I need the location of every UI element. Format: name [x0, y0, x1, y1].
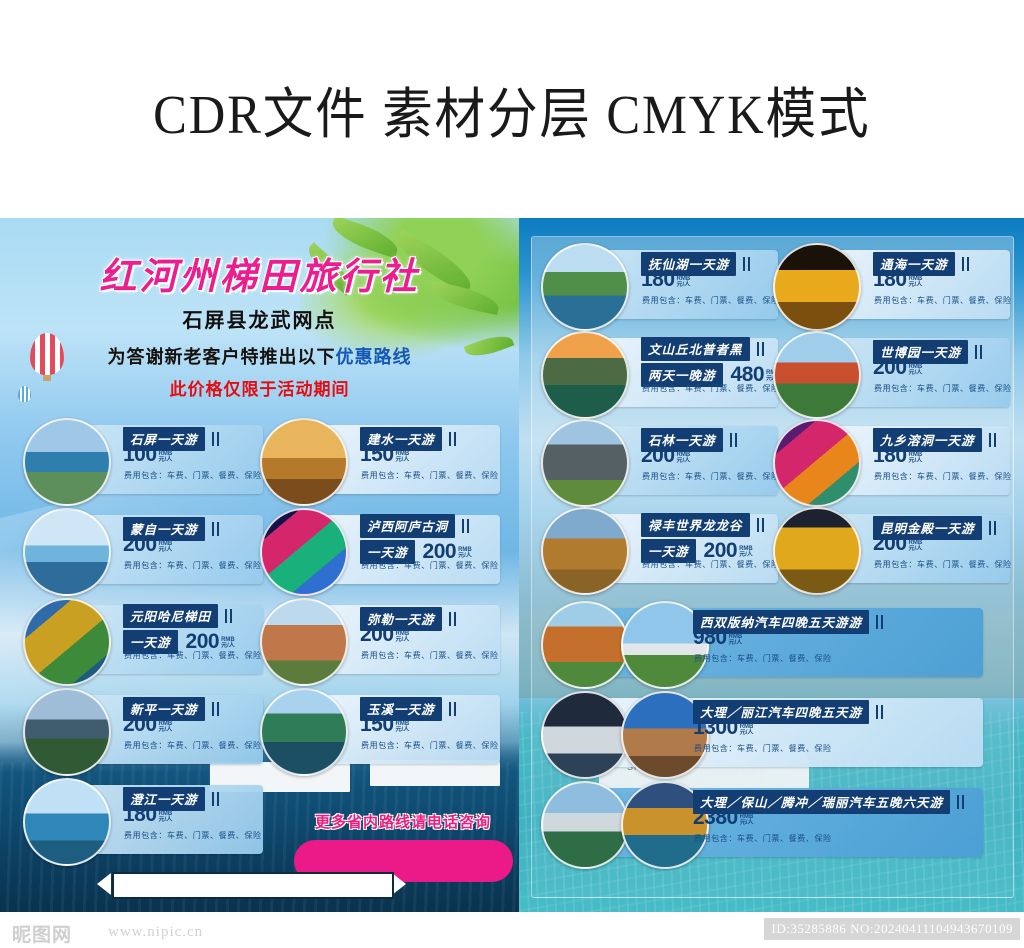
tour-includes: 费用包含：车费、门票、餐费、保险 [361, 470, 499, 481]
price-unit: RMB元/人 [159, 451, 173, 465]
tour-includes: 费用包含：车费、门票、餐费、保险 [361, 560, 499, 571]
more-routes-text: 更多省内路线请电话咨询 [293, 811, 513, 832]
tour-thumbnail [23, 598, 111, 686]
tour-price-row: 180RMB元/人 [123, 806, 172, 825]
tour-thumbnail [260, 598, 348, 686]
tour-price: 200 [360, 626, 394, 645]
brand-title: 红河州梯田旅行社 [0, 246, 519, 300]
tour-includes: 费用包含：车费、门票、餐费、保险 [361, 740, 499, 751]
per-person-label: 元/人 [396, 637, 410, 643]
tour-thumbnail [23, 688, 111, 776]
per-person-label: 元/人 [458, 553, 472, 559]
per-person-label: 元/人 [909, 458, 923, 464]
tour-includes: 费用包含：车费、门票、餐费、保险 [874, 383, 1012, 394]
title-bars-icon [989, 521, 998, 535]
tour-thumbnail [541, 419, 629, 507]
price-unit: RMB元/人 [740, 814, 754, 828]
price-unit: RMB元/人 [396, 631, 410, 645]
title-bars-icon [225, 609, 234, 623]
price-unit: RMB元/人 [909, 540, 923, 554]
tour-includes: 费用包含：车费、门票、餐费、保险 [642, 383, 780, 394]
arrow-right-icon [392, 873, 406, 895]
per-person-label: 元/人 [677, 458, 691, 464]
per-person-label: 元/人 [739, 552, 753, 558]
arrow-left-icon [97, 873, 111, 895]
title-bars-icon [449, 612, 458, 626]
tour-thumbnail [260, 688, 348, 776]
tour-includes: 费用包含：车费、门票、餐费、保险 [642, 559, 780, 570]
price-unit: RMB元/人 [909, 452, 923, 466]
title-bars-icon [743, 257, 752, 271]
tour-includes: 费用包含：车费、门票、餐费、保险 [642, 295, 780, 306]
tour-includes: 费用包含：车费、门票、餐费、保险 [124, 470, 262, 481]
tour-thumbnail [23, 508, 111, 596]
tour-price: 180 [873, 271, 907, 290]
price-unit: RMB元/人 [909, 364, 923, 378]
tour-thumbnail [23, 418, 111, 506]
tour-price: 200 [123, 716, 157, 735]
tour-includes: 费用包含：车费、门票、餐费、保险 [361, 650, 499, 661]
tour-price-row: 150RMB元/人 [360, 446, 409, 465]
tour-price: 100 [123, 446, 157, 465]
price-unit: RMB元/人 [159, 541, 173, 555]
tour-price: 200 [186, 633, 220, 652]
per-person-label: 元/人 [740, 820, 754, 826]
title-bars-icon [962, 257, 971, 271]
price-unit: RMB元/人 [909, 276, 923, 290]
tour-price-row: 150RMB元/人 [360, 716, 409, 735]
tour-price: 200 [704, 542, 738, 561]
right-poster-panel: SN-3119 抚仙湖一天游180RMB元/人费用包含：车费、门票、餐费、保险通… [519, 218, 1024, 912]
per-person-label: 元/人 [396, 727, 410, 733]
tour-price: 980 [693, 629, 727, 648]
tour-price-row: 200RMB元/人 [873, 535, 922, 554]
tour-price: 180 [641, 271, 675, 290]
tour-price: 200 [423, 543, 457, 562]
tour-thumbnail [541, 781, 629, 869]
per-person-label: 元/人 [909, 546, 923, 552]
tour-includes: 费用包含：车费、门票、餐费、保险 [124, 830, 262, 841]
tour-thumbnail [541, 601, 629, 689]
tour-price-row: 2380RMB元/人 [693, 809, 753, 828]
per-person-label: 元/人 [909, 370, 923, 376]
left-poster-panel: 红河州梯田旅行社 石屏县龙武网点 为答谢新老客户特推出以下优惠路线 此价格仅限于… [0, 218, 519, 912]
promo-line-prefix: 为答谢新老客户特推出以下 [108, 347, 336, 367]
price-unit: RMB元/人 [729, 634, 743, 648]
per-person-label: 元/人 [396, 457, 410, 463]
per-person-label: 元/人 [909, 282, 923, 288]
per-person-label: 元/人 [677, 282, 691, 288]
title-bars-icon [989, 433, 998, 447]
per-person-label: 元/人 [159, 817, 173, 823]
tour-title-block: 文山丘北普者黑两天一晚游480RMB元/人 [641, 337, 780, 387]
tour-thumbnail [260, 418, 348, 506]
tour-includes: 费用包含：车费、门票、餐费、保险 [642, 471, 780, 482]
tour-thumbnail [541, 243, 629, 331]
tour-price-row: 100RMB元/人 [123, 446, 172, 465]
page-heading-bar: CDR文件 素材分层 CMYK模式 [0, 0, 1024, 218]
price-unit: RMB元/人 [677, 452, 691, 466]
tour-title: 泸西阿庐古洞 [360, 514, 455, 538]
tour-price-row: 200RMB元/人 [123, 536, 172, 555]
price-unit: RMB元/人 [677, 276, 691, 290]
tour-thumbnail [260, 508, 348, 596]
tour-includes: 费用包含：车费、门票、餐费、保险 [124, 560, 262, 571]
watermark-url: www.nipic.cn [108, 924, 203, 941]
tour-title-block: 泸西阿庐古洞一天游200RMB元/人 [360, 514, 472, 564]
watermark-id: ID:35285886 NO:20240411104943670109 [764, 918, 1020, 940]
tour-thumbnail [541, 691, 629, 779]
tour-includes: 费用包含：车费、门票、餐费、保险 [694, 833, 832, 844]
tour-title-block: 禄丰世界龙龙谷一天游200RMB元/人 [641, 513, 766, 563]
price-unit: RMB元/人 [396, 721, 410, 735]
title-bars-icon [730, 433, 739, 447]
tour-price-row: 180RMB元/人 [873, 447, 922, 466]
tour-title-block: 元阳哈尼梯田一天游200RMB元/人 [123, 604, 235, 654]
tour-thumbnail [541, 331, 629, 419]
tour-price: 200 [873, 359, 907, 378]
tour-thumbnail [23, 778, 111, 866]
tour-price: 180 [873, 447, 907, 466]
tour-price-row: 1300RMB元/人 [693, 719, 753, 738]
page-title: CDR文件 素材分层 CMYK模式 [153, 69, 870, 149]
phone-number-field[interactable] [112, 872, 394, 899]
price-unit: RMB元/人 [396, 451, 410, 465]
tour-price: 480 [731, 366, 765, 385]
tour-price-row: 980RMB元/人 [693, 629, 742, 648]
title-bars-icon [757, 342, 766, 356]
tour-thumbnail [773, 331, 861, 419]
title-bars-icon [449, 702, 458, 716]
title-bars-icon [212, 792, 221, 806]
title-bars-icon [449, 432, 458, 446]
tour-price: 1300 [693, 719, 738, 738]
tour-title: 禄丰世界龙龙谷 [641, 513, 750, 537]
per-person-label: 元/人 [740, 730, 754, 736]
per-person-label: 元/人 [159, 457, 173, 463]
tour-includes: 费用包含：车费、门票、餐费、保险 [874, 559, 1012, 570]
tour-price: 2380 [693, 809, 738, 828]
watermark-logo: 昵图网 [12, 920, 72, 947]
tour-price-row: 200RMB元/人 [641, 447, 690, 466]
title-bars-icon [975, 345, 984, 359]
tour-price: 200 [873, 535, 907, 554]
tour-thumbnail [541, 507, 629, 595]
left-brand-header: 红河州梯田旅行社 石屏县龙武网点 为答谢新老客户特推出以下优惠路线 此价格仅限于… [0, 246, 519, 400]
promo-line-highlight: 优惠路线 [336, 347, 412, 367]
title-bars-icon [212, 702, 221, 716]
title-bars-icon [212, 522, 221, 536]
tour-includes: 费用包含：车费、门票、餐费、保险 [694, 743, 832, 754]
tour-includes: 费用包含：车费、门票、餐费、保险 [874, 295, 1012, 306]
promo-line: 为答谢新老客户特推出以下优惠路线 [0, 343, 519, 369]
tour-price-row: 200RMB元/人 [360, 626, 409, 645]
tour-price: 200 [641, 447, 675, 466]
tour-includes: 费用包含：车费、门票、餐费、保险 [124, 650, 262, 661]
tour-price-row: 200RMB元/人 [123, 716, 172, 735]
title-bars-icon [212, 432, 221, 446]
tour-thumbnail [773, 419, 861, 507]
price-unit: RMB元/人 [159, 721, 173, 735]
per-person-label: 元/人 [729, 640, 743, 646]
tour-price-row: 200RMB元/人 [873, 359, 922, 378]
price-unit: RMB元/人 [740, 724, 754, 738]
per-person-label: 元/人 [221, 643, 235, 649]
tour-price-row: 180RMB元/人 [873, 271, 922, 290]
tour-title: 文山丘北普者黑 [641, 337, 750, 361]
tour-price-row: 180RMB元/人 [641, 271, 690, 290]
tour-includes: 费用包含：车费、门票、餐费、保险 [124, 740, 262, 751]
price-unit: RMB元/人 [159, 811, 173, 825]
tour-includes: 费用包含：车费、门票、餐费、保险 [874, 471, 1012, 482]
tour-price: 150 [360, 716, 394, 735]
per-person-label: 元/人 [159, 727, 173, 733]
tour-title: 元阳哈尼梯田 [123, 604, 218, 628]
title-bars-icon [876, 705, 885, 719]
brand-subtitle: 石屏县龙武网点 [0, 304, 519, 333]
title-bars-icon [462, 519, 471, 533]
per-person-label: 元/人 [159, 547, 173, 553]
title-bars-icon [876, 615, 885, 629]
title-bars-icon [757, 518, 766, 532]
tour-thumbnail [773, 243, 861, 331]
tour-price: 150 [360, 446, 394, 465]
tour-thumbnail [773, 507, 861, 595]
tour-price: 200 [123, 536, 157, 555]
tour-includes: 费用包含：车费、门票、餐费、保险 [694, 653, 832, 664]
promo-line-warning: 此价格仅限于活动期间 [0, 375, 519, 400]
tour-price: 180 [123, 806, 157, 825]
poster-root: CDR文件 素材分层 CMYK模式 红河州梯田旅行社 石屏县龙武网点 为答谢新老… [0, 0, 1024, 948]
title-bars-icon [957, 795, 966, 809]
